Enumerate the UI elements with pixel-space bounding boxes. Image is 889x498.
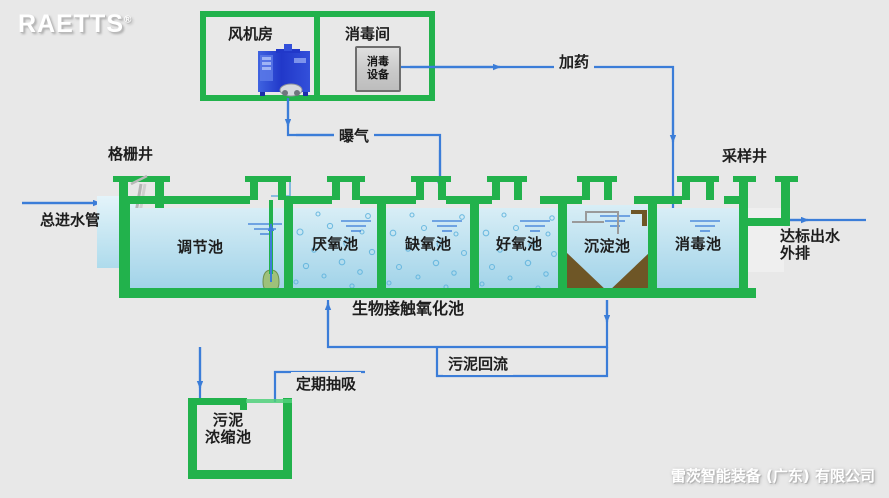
- tank-label-disinfection: 消毒池: [675, 236, 722, 253]
- sludge-tank-line1: 污泥: [213, 411, 244, 429]
- dosing-pipe: [397, 67, 673, 227]
- inlet-label: 总进水管: [40, 212, 100, 229]
- aeration-label: 曝气: [334, 124, 374, 147]
- tank-label-anaerobic: 厌氧池: [312, 236, 359, 253]
- diagram-canvas: RAETTS® 雷茨智能装备 (广东) 有限公司 风机房 消毒间 消毒 设备 格…: [0, 0, 889, 498]
- blower-unit-icon: [258, 44, 310, 96]
- outlet-label-line2: 外排: [780, 244, 810, 262]
- blower-room-label: 风机房: [228, 26, 273, 43]
- company-watermark: 雷茨智能装备 (广东) 有限公司: [671, 465, 875, 486]
- outlet-label-line1: 达标出水: [780, 227, 840, 245]
- tank-label-sedimentation: 沉淀池: [584, 238, 631, 255]
- disinfection-equipment-box[interactable]: 消毒 设备: [355, 46, 401, 92]
- sedimentation-weir-drop: [642, 210, 647, 226]
- sampling-well-label: 采样井: [722, 148, 767, 165]
- outlet-label: 达标出水 外排: [780, 228, 840, 262]
- equipment-label-line2: 设备: [367, 68, 389, 81]
- dosing-label: 加药: [554, 50, 594, 73]
- brand-watermark: RAETTS®: [18, 10, 132, 39]
- sludge-return-label: 污泥回流: [443, 352, 513, 375]
- brand-name: RAETTS: [18, 10, 124, 38]
- grid-well-label: 格栅井: [108, 146, 153, 163]
- sampling-well-interior: [746, 208, 784, 272]
- tank-label-anoxic: 缺氧池: [405, 236, 452, 253]
- disinfection-room-label: 消毒间: [345, 26, 390, 43]
- periodic-suction-label: 定期抽吸: [291, 372, 361, 395]
- equipment-label-line1: 消毒: [367, 55, 389, 68]
- brand-registered-mark: ®: [124, 15, 132, 26]
- biological-contact-oxidation-label: 生物接触氧化池: [352, 300, 464, 318]
- sludge-tank-line2: 浓缩池: [205, 428, 252, 446]
- tank-label-aerobic: 好氧池: [496, 236, 543, 253]
- sludge-thickening-tank-label: 污泥 浓缩池: [205, 412, 252, 446]
- tank-label-regulating: 调节池: [177, 239, 224, 256]
